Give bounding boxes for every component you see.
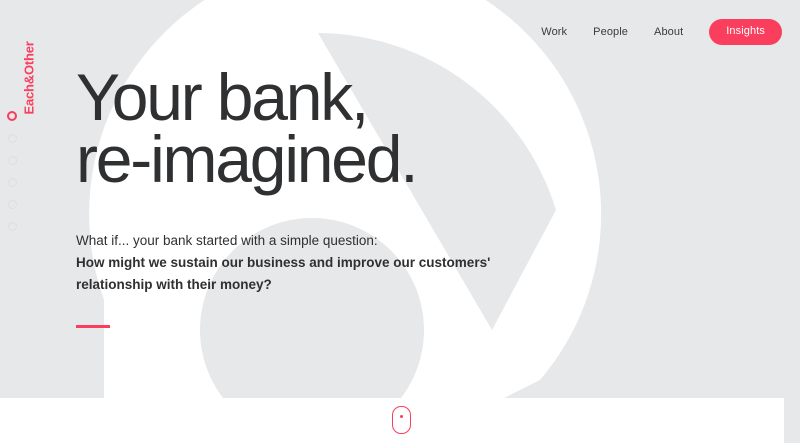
section-dot-1[interactable] xyxy=(7,111,17,121)
nav-link-about[interactable]: About xyxy=(654,26,683,38)
nav-link-people[interactable]: People xyxy=(593,26,628,38)
insights-button[interactable]: Insights xyxy=(709,19,782,45)
brand-logo[interactable]: Each&Other xyxy=(22,5,37,115)
nav-link-work[interactable]: Work xyxy=(541,26,567,38)
hero-content: Your bank, re-imagined. What if... your … xyxy=(76,66,716,328)
section-nav-dots[interactable] xyxy=(7,111,17,231)
page-title: Your bank, re-imagined. xyxy=(76,66,716,190)
section-dot-2[interactable] xyxy=(8,134,17,143)
section-dot-6[interactable] xyxy=(8,222,17,231)
accent-rule xyxy=(76,325,110,328)
left-rail: Each&Other xyxy=(0,0,34,443)
hero-copy: What if... your bank started with a simp… xyxy=(76,190,716,296)
mouse-scroll-icon[interactable] xyxy=(392,406,411,434)
top-navigation: Work People About Insights xyxy=(541,19,782,45)
section-dot-4[interactable] xyxy=(8,178,17,187)
headline-line-2: re-imagined. xyxy=(76,128,716,190)
hero-page: Each&Other Work People About Insights Yo… xyxy=(0,0,800,443)
headline-line-1: Your bank, xyxy=(76,66,716,128)
section-dot-3[interactable] xyxy=(8,156,17,165)
hero-copy-question: How might we sustain our business and im… xyxy=(76,252,528,296)
scroll-wheel-dot xyxy=(400,415,403,418)
hero-copy-lead: What if... your bank started with a simp… xyxy=(76,230,716,252)
section-dot-5[interactable] xyxy=(8,200,17,209)
